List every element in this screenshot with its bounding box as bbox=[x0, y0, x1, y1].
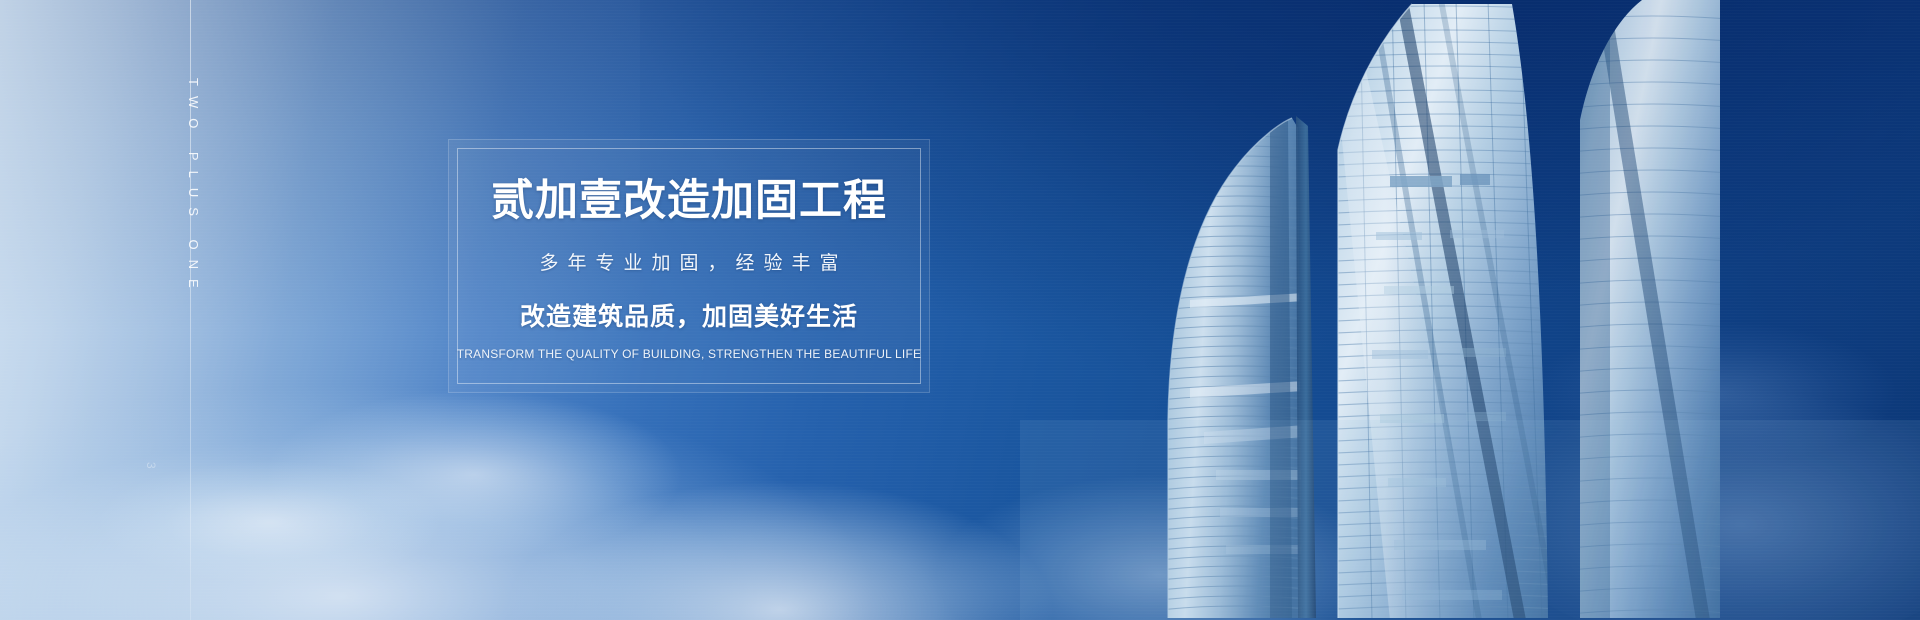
hero-text-panel: 贰加壹改造加固工程 多年专业加固，经验丰富 改造建筑品质，加固美好生活 TRAN… bbox=[448, 139, 930, 393]
hero-slogan-en: TRANSFORM THE QUALITY OF BUILDING, STREN… bbox=[448, 347, 930, 361]
skyscrapers-image bbox=[1020, 0, 1920, 620]
hero-subtitle: 多年专业加固，经验丰富 bbox=[448, 248, 930, 275]
hero-title: 贰加壹改造加固工程 bbox=[448, 179, 930, 224]
vertical-slide-number: 3 bbox=[144, 462, 158, 470]
hero-panel-content: 贰加壹改造加固工程 多年专业加固，经验丰富 改造建筑品质，加固美好生活 TRAN… bbox=[448, 179, 930, 361]
vertical-brand-label: TWO PLUS ONE bbox=[186, 78, 201, 298]
hero-banner: TWO PLUS ONE 3 贰加壹改造加固工程 多年专业加固，经验丰富 改造建… bbox=[0, 0, 1920, 620]
hero-slogan-cn: 改造建筑品质，加固美好生活 bbox=[448, 297, 930, 333]
